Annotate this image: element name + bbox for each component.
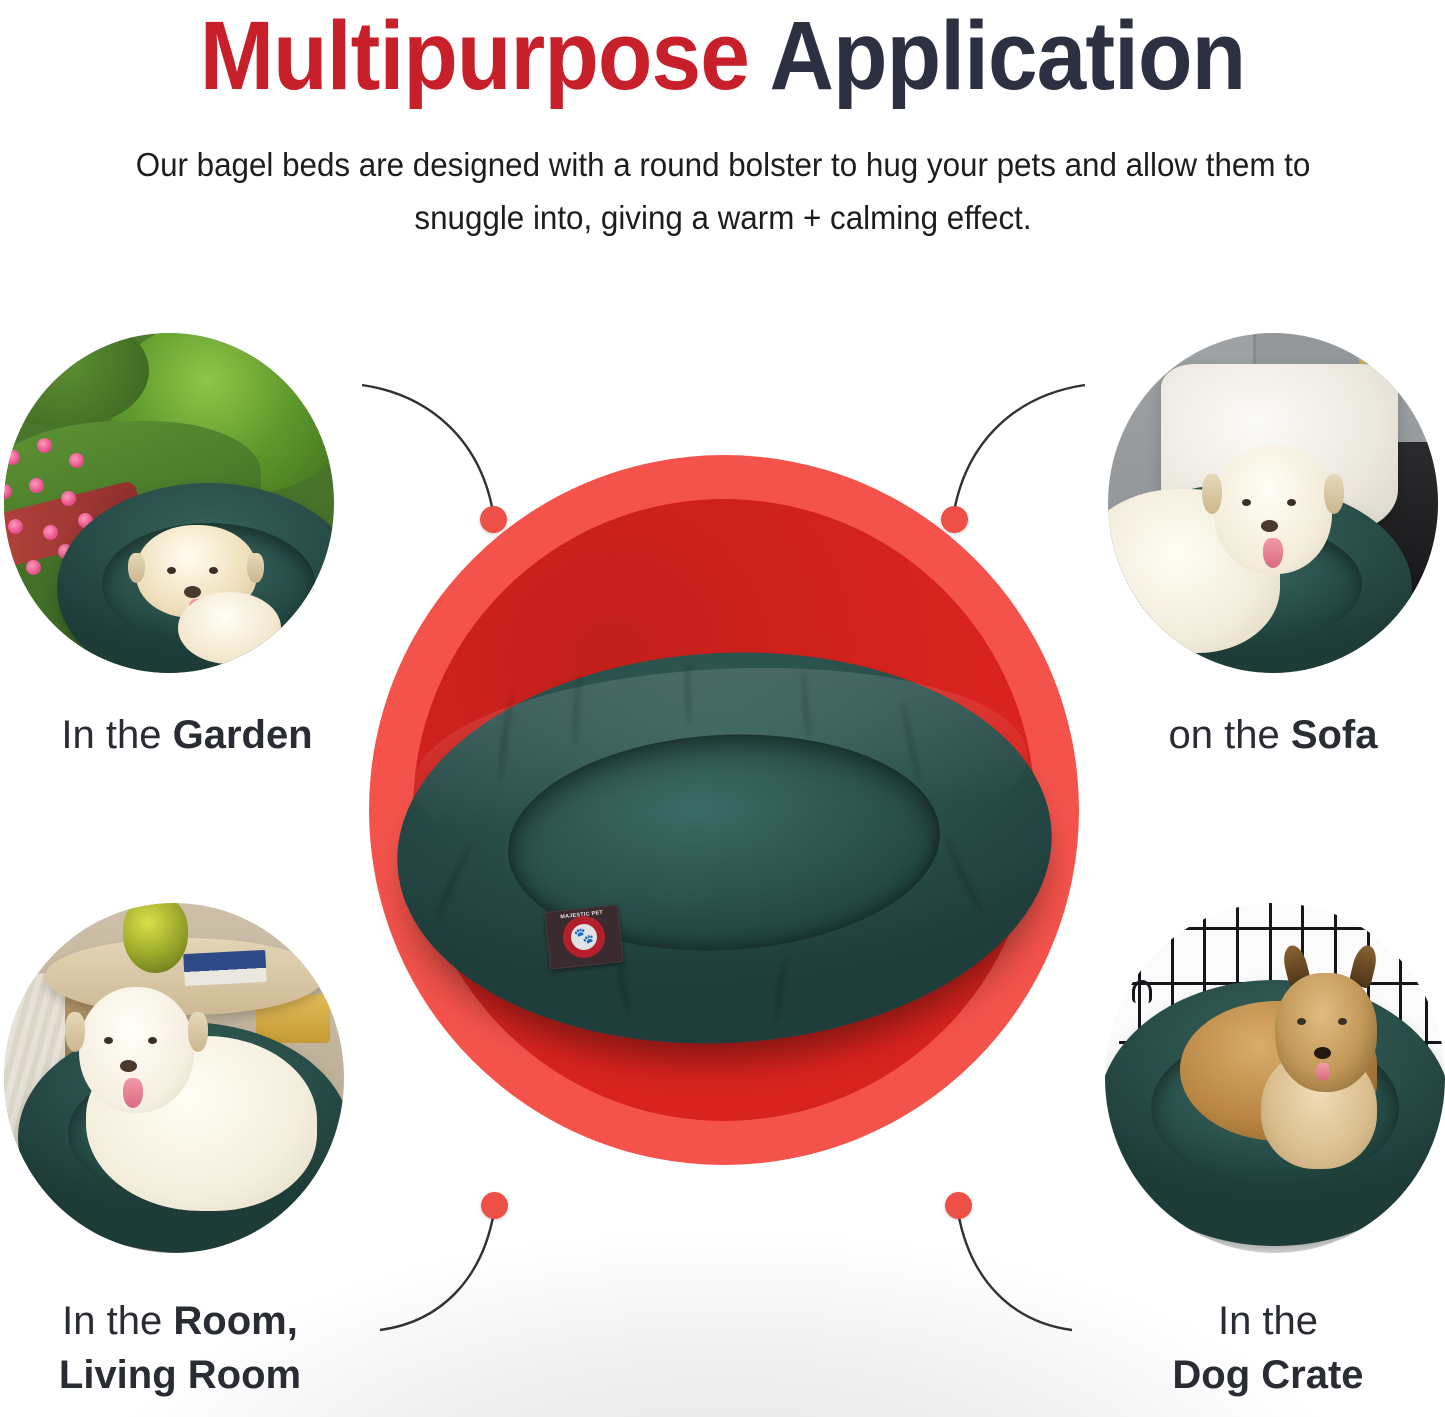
sofa-scene — [1108, 333, 1438, 673]
hero-product-circle: 🐾 MAJESTIC PET — [369, 455, 1079, 1165]
header: Multipurpose Application Our bagel beds … — [0, 0, 1445, 244]
dog-crate-scene — [1105, 903, 1445, 1253]
title-dark-word: Application — [769, 1, 1245, 110]
caption-sofa-regular: on the — [1168, 713, 1290, 757]
photo-sofa — [1108, 333, 1438, 673]
caption-living-room: In the Room,Living Room — [10, 1294, 350, 1402]
page-title: Multipurpose Application — [58, 0, 1387, 108]
title-red-word: Multipurpose — [200, 1, 749, 110]
pet-bed-in-photo — [57, 483, 334, 673]
caption-room-regular: In the — [62, 1299, 173, 1343]
caption-dog-crate: In theDog Crate — [1098, 1294, 1438, 1402]
caption-room-bold-line2: Living Room — [59, 1353, 301, 1397]
caption-sofa: on the Sofa — [1108, 708, 1438, 762]
dog-head — [1214, 445, 1333, 574]
dog-head — [1275, 973, 1377, 1092]
caption-sofa-bold: Sofa — [1291, 713, 1378, 757]
connector-dot-sofa — [941, 506, 968, 533]
dog-body — [178, 592, 281, 664]
photo-living-room — [4, 903, 344, 1253]
photo-garden — [4, 333, 334, 673]
caption-garden-bold: Garden — [173, 713, 313, 757]
brand-label-tag: 🐾 MAJESTIC PET — [544, 904, 624, 969]
brand-tag-text: MAJESTIC PET — [545, 905, 622, 968]
dog-head — [79, 987, 195, 1113]
photo-dog-crate — [1105, 903, 1445, 1253]
connector-dot-crate — [945, 1192, 972, 1219]
caption-crate-regular: In the — [1218, 1299, 1318, 1343]
connector-dot-room — [481, 1192, 508, 1219]
hero-pet-bed: 🐾 MAJESTIC PET — [397, 653, 1052, 1043]
connector-dot-garden — [480, 506, 507, 533]
infographic-canvas: Multipurpose Application Our bagel beds … — [0, 0, 1445, 1417]
books — [183, 950, 266, 986]
caption-garden-regular: In the — [61, 713, 172, 757]
subtitle-text: Our bagel beds are designed with a round… — [110, 138, 1336, 244]
connector-crate — [958, 1212, 1072, 1330]
connector-room — [380, 1212, 494, 1330]
caption-room-bold: Room, — [173, 1299, 297, 1343]
caption-garden: In the Garden — [22, 708, 352, 762]
garden-scene — [4, 333, 334, 673]
caption-crate-bold-line2: Dog Crate — [1172, 1353, 1363, 1397]
living-room-scene — [4, 903, 344, 1253]
